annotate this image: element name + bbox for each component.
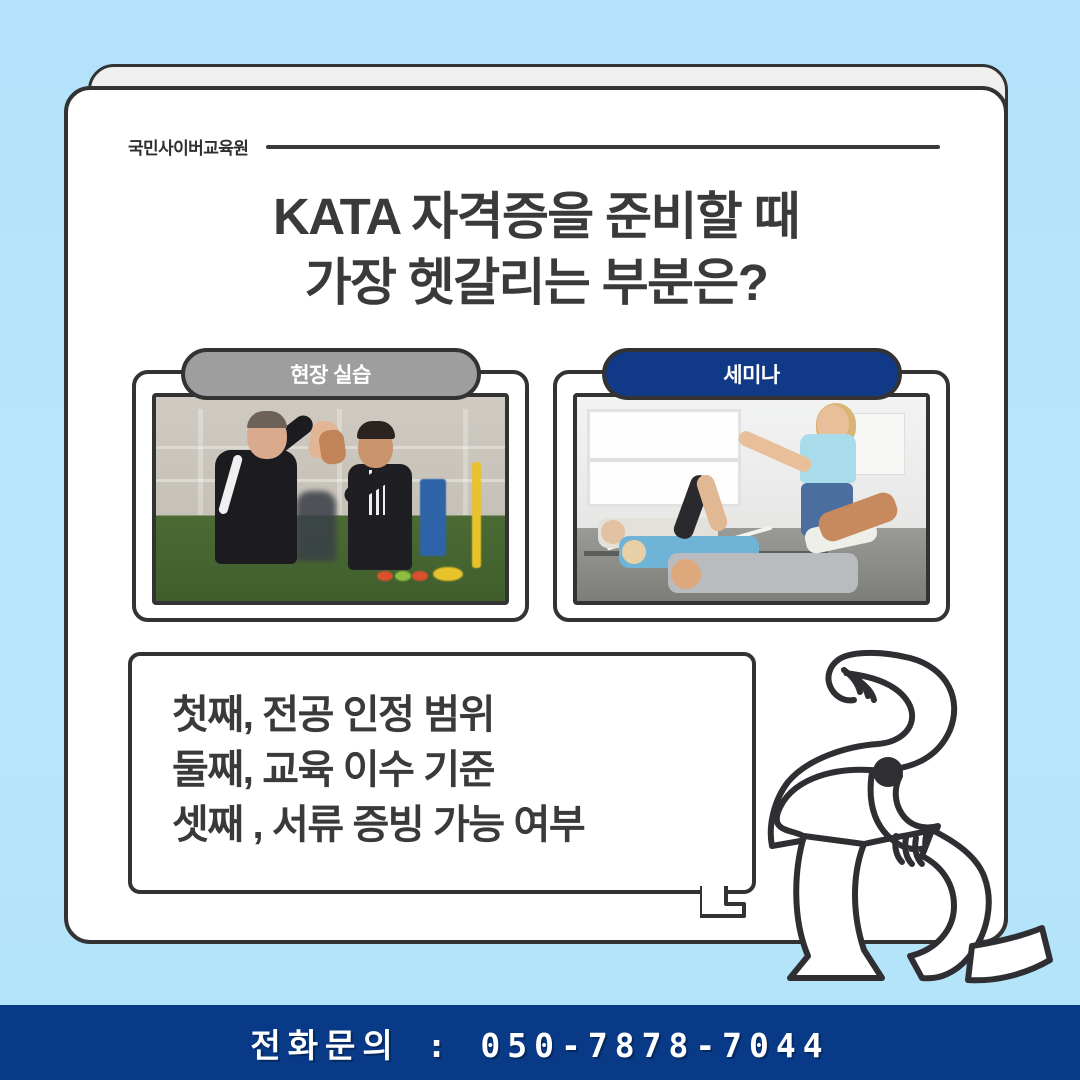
bubble-line-2: 둘째, 교육 이수 기준: [172, 743, 732, 798]
tab-practice-label: 현장 실습: [290, 359, 371, 389]
tab-seminar[interactable]: 세미나: [602, 348, 902, 400]
practice-photo: [152, 393, 509, 605]
header-divider: [266, 145, 940, 149]
kneeling-person-illustration: [760, 630, 1060, 1008]
bubble-line-3: 셋째 , 서류 증빙 가능 여부: [172, 798, 732, 853]
speech-bubble-text: 첫째, 전공 인정 범위 둘째, 교육 이수 기준 셋째 , 서류 증빙 가능 …: [172, 688, 732, 854]
seminar-photo: [573, 393, 930, 605]
speech-bubble-tail: [700, 878, 760, 920]
header: 국민사이버교육원: [128, 134, 940, 159]
title-line-2: 가장 헷갈리는 부분은?: [68, 250, 1004, 316]
tab-practice[interactable]: 현장 실습: [181, 348, 481, 400]
pilates-scene-illustration: [577, 397, 926, 601]
panels-row: 현장 실습: [132, 348, 950, 622]
figure-eye-dot: [873, 757, 903, 787]
panel-practice-box: [132, 370, 529, 622]
page-title: KATA 자격증을 준비할 때 가장 헷갈리는 부분은?: [68, 184, 1004, 317]
speech-bubble: 첫째, 전공 인정 범위 둘째, 교육 이수 기준 셋째 , 서류 증빙 가능 …: [128, 652, 756, 894]
gym-scene-illustration: [156, 397, 505, 601]
brand-name: 국민사이버교육원: [128, 134, 248, 159]
panel-seminar: 세미나: [553, 348, 950, 622]
bubble-line-1: 첫째, 전공 인정 범위: [172, 688, 732, 743]
panel-seminar-box: [553, 370, 950, 622]
title-line-1: KATA 자격증을 준비할 때: [273, 188, 799, 245]
footer-bar: 전화문의 : 050-7878-7044: [0, 1005, 1080, 1080]
tab-seminar-label: 세미나: [723, 359, 779, 389]
panel-practice: 현장 실습: [132, 348, 529, 622]
phone-contact-text: 전화문의 : 050-7878-7044: [250, 1019, 829, 1067]
